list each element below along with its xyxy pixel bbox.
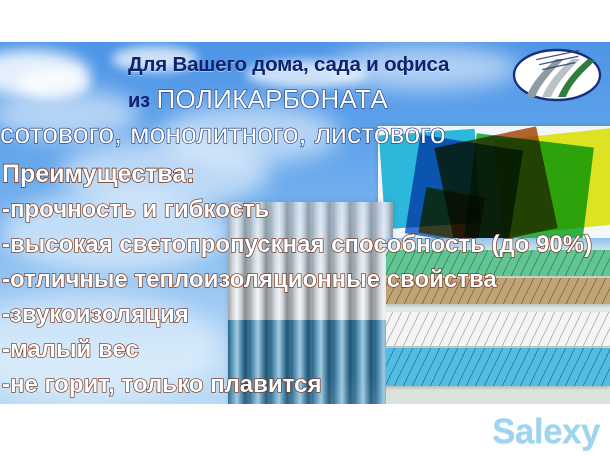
panel-white	[386, 312, 610, 346]
cloud-shape	[0, 88, 140, 140]
colored-sheets-photo	[378, 126, 610, 242]
salexy-watermark: Salexy	[492, 412, 600, 452]
panel-bronze	[386, 278, 610, 304]
corrugated-sheets-photo	[228, 202, 393, 404]
cellular-panels-photo	[386, 238, 610, 404]
cloud-shape	[330, 46, 520, 90]
banner-photo-collage	[0, 42, 610, 404]
cloud-shape	[0, 192, 230, 272]
cloud-shape	[0, 292, 220, 402]
sheet-orange	[418, 187, 485, 242]
panel-green	[386, 250, 610, 276]
road-logo-icon	[512, 47, 602, 103]
cloud-shape	[112, 46, 198, 72]
advertisement-banner: Для Вашего дома, сада и офиса из ПОЛИКАР…	[0, 0, 610, 456]
panel-blue	[386, 348, 610, 386]
corrugated-haze-overlay	[228, 202, 393, 404]
